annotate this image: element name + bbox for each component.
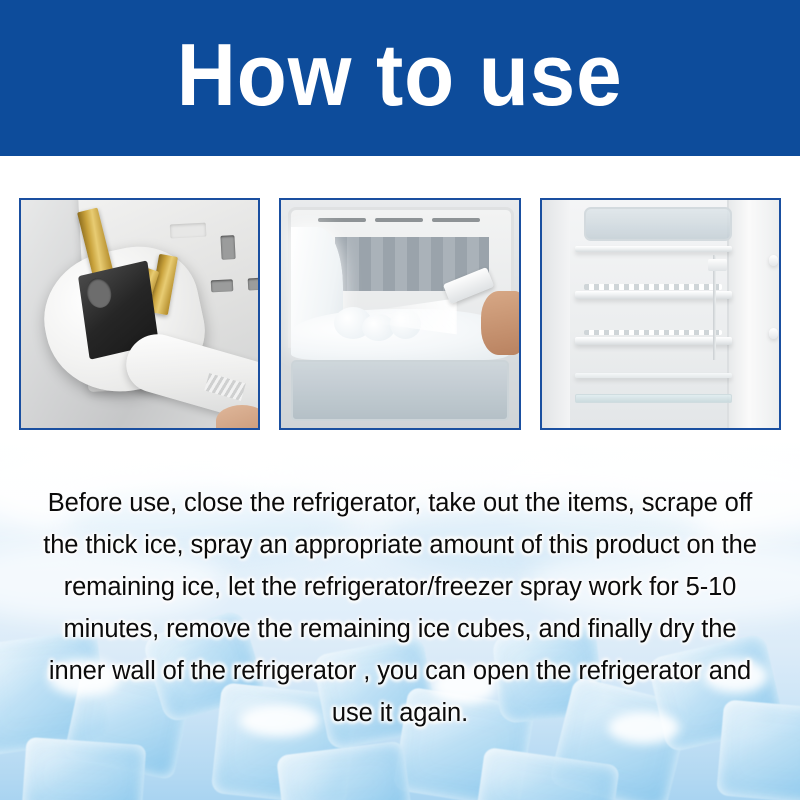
freezer-vent [318, 218, 366, 222]
fridge-shelf [575, 337, 732, 345]
fridge-shelf [575, 246, 732, 252]
header-gap-divider [0, 156, 800, 198]
photo-panel-clean-fridge [540, 198, 781, 430]
plug-photo-illustration [21, 200, 258, 428]
instructions-paragraph: Before use, close the refrigerator, take… [36, 482, 764, 734]
fridge-wire-grille [584, 330, 722, 335]
socket-earth-slot [220, 236, 235, 261]
socket-live-slot [211, 280, 233, 293]
door-shelf [769, 255, 778, 266]
fridge-door [727, 200, 779, 428]
photo-panel-unplug [19, 198, 260, 430]
photo-strip [0, 198, 800, 430]
freezer-vent [432, 218, 480, 222]
how-to-use-infographic: How to use [0, 0, 800, 800]
header-banner: How to use [0, 0, 800, 156]
freezer-drawer [291, 360, 509, 422]
fridge-glass-shelf [575, 394, 732, 403]
page-title: How to use [177, 31, 623, 119]
fridge-top-bin [584, 207, 731, 241]
door-shelf [769, 328, 778, 339]
fridge-shelf [575, 373, 732, 378]
fridge-shelf [575, 291, 732, 299]
fridge-shelf-clip [708, 259, 727, 270]
fridge-side-wall [542, 200, 570, 428]
fridge-wire-grille [584, 284, 722, 289]
freezer-spray-illustration [281, 200, 518, 428]
freezer-vent [375, 218, 423, 222]
photo-panel-spray-freezer [279, 198, 520, 430]
ice-cube [22, 737, 147, 800]
clean-fridge-illustration [542, 200, 779, 428]
socket-neutral-slot [248, 278, 259, 291]
socket-switch [169, 223, 207, 239]
hand-holding-bottle [481, 291, 519, 355]
